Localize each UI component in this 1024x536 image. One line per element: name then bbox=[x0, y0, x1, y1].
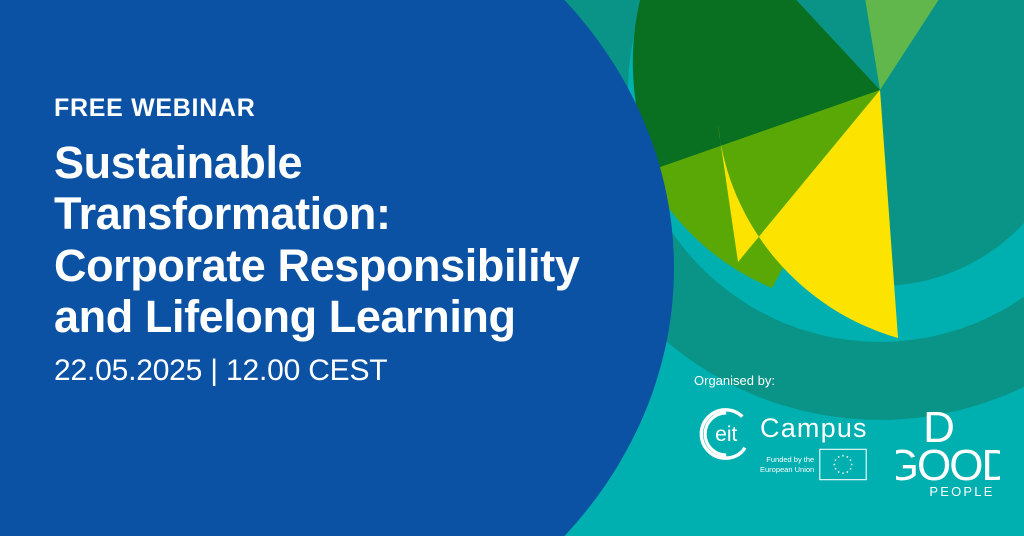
eu-funding-line-1: Funded by the bbox=[766, 455, 814, 464]
eit-mark-text: eit bbox=[715, 423, 737, 446]
campus-right-group: Campus Funded by the European Union bbox=[760, 401, 868, 481]
title-line-1: Sustainable bbox=[54, 137, 654, 188]
eyebrow-label: FREE WEBINAR bbox=[54, 96, 654, 121]
title-line-2: Transformation: bbox=[54, 188, 654, 239]
eu-funding-line-2: European Union bbox=[760, 465, 814, 474]
eu-funding-row: Funded by the European Union bbox=[760, 448, 868, 481]
dgp-line-3: PEOPLE bbox=[929, 484, 994, 499]
eit-campus-logo: eit Campus Funded by the European Union bbox=[694, 401, 868, 481]
organised-by-block: Organised by: eit Campus Funded by the E… bbox=[694, 374, 868, 481]
headline-block: FREE WEBINAR Sustainable Transformation:… bbox=[54, 96, 654, 386]
event-datetime: 22.05.2025 | 12.00 CEST bbox=[54, 356, 654, 386]
do-good-people-logo: D GOOD PEOPLE bbox=[896, 408, 1000, 500]
eit-ring-icon: eit bbox=[694, 403, 756, 465]
eu-funding-text: Funded by the European Union bbox=[760, 455, 814, 475]
title-line-3: Corporate Responsibility bbox=[54, 240, 654, 291]
organised-by-label: Organised by: bbox=[694, 374, 868, 387]
do-good-people-svg: D GOOD PEOPLE bbox=[896, 408, 1000, 500]
webinar-promo-banner: FREE WEBINAR Sustainable Transformation:… bbox=[0, 0, 1024, 536]
dgp-line-2: GOOD bbox=[896, 441, 1000, 490]
title-line-4: and Lifelong Learning bbox=[54, 291, 654, 342]
page-title: Sustainable Transformation: Corporate Re… bbox=[54, 137, 654, 342]
campus-wordmark: Campus bbox=[760, 415, 868, 442]
eu-flag-icon bbox=[819, 448, 867, 481]
